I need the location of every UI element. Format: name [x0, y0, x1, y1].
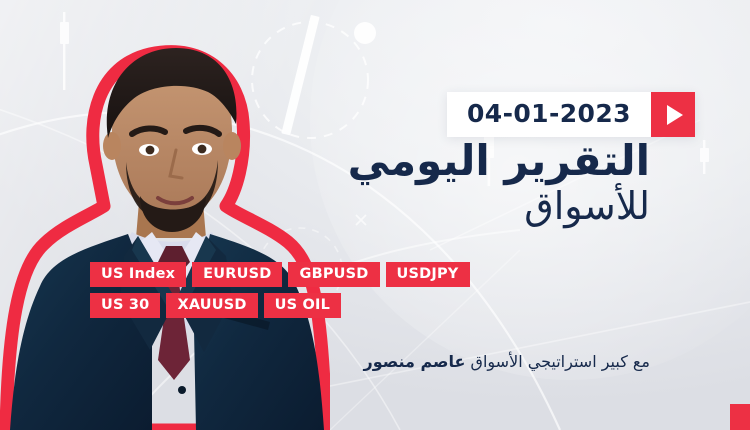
ticker-badge[interactable]: USDJPY [386, 262, 470, 287]
corner-accent-square [730, 404, 750, 430]
date-badge[interactable]: 04-01-2023 [447, 92, 695, 137]
ticker-badge-group: USDJPY GBPUSD EURUSD US Index US OIL XAU… [90, 262, 650, 318]
credit-prefix: مع كبير استراتيجي الأسواق [471, 352, 650, 371]
date-text: 04-01-2023 [447, 92, 651, 137]
page-title: التقرير اليومي للأسواق [90, 140, 650, 227]
ticker-row-1: USDJPY GBPUSD EURUSD US Index [90, 262, 470, 287]
daily-market-report-banner: 04-01-2023 التقرير اليومي للأسواق USDJPY… [0, 0, 750, 430]
title-line-1: التقرير اليومي [90, 140, 650, 183]
title-line-2: للأسواق [90, 185, 650, 228]
play-button[interactable] [651, 92, 695, 137]
play-triangle-icon [667, 105, 683, 125]
ticker-badge[interactable]: XAUUSD [166, 293, 257, 318]
ticker-badge[interactable]: GBPUSD [288, 262, 379, 287]
ticker-badge[interactable]: US OIL [264, 293, 341, 318]
ticker-badge[interactable]: US Index [90, 262, 186, 287]
ticker-badge[interactable]: EURUSD [192, 262, 282, 287]
ticker-row-2: US OIL XAUUSD US 30 [90, 293, 341, 318]
credit-name: عاصم منصور [363, 352, 465, 371]
ticker-badge[interactable]: US 30 [90, 293, 160, 318]
presenter-credit: مع كبير استراتيجي الأسواق عاصم منصور [90, 352, 650, 373]
